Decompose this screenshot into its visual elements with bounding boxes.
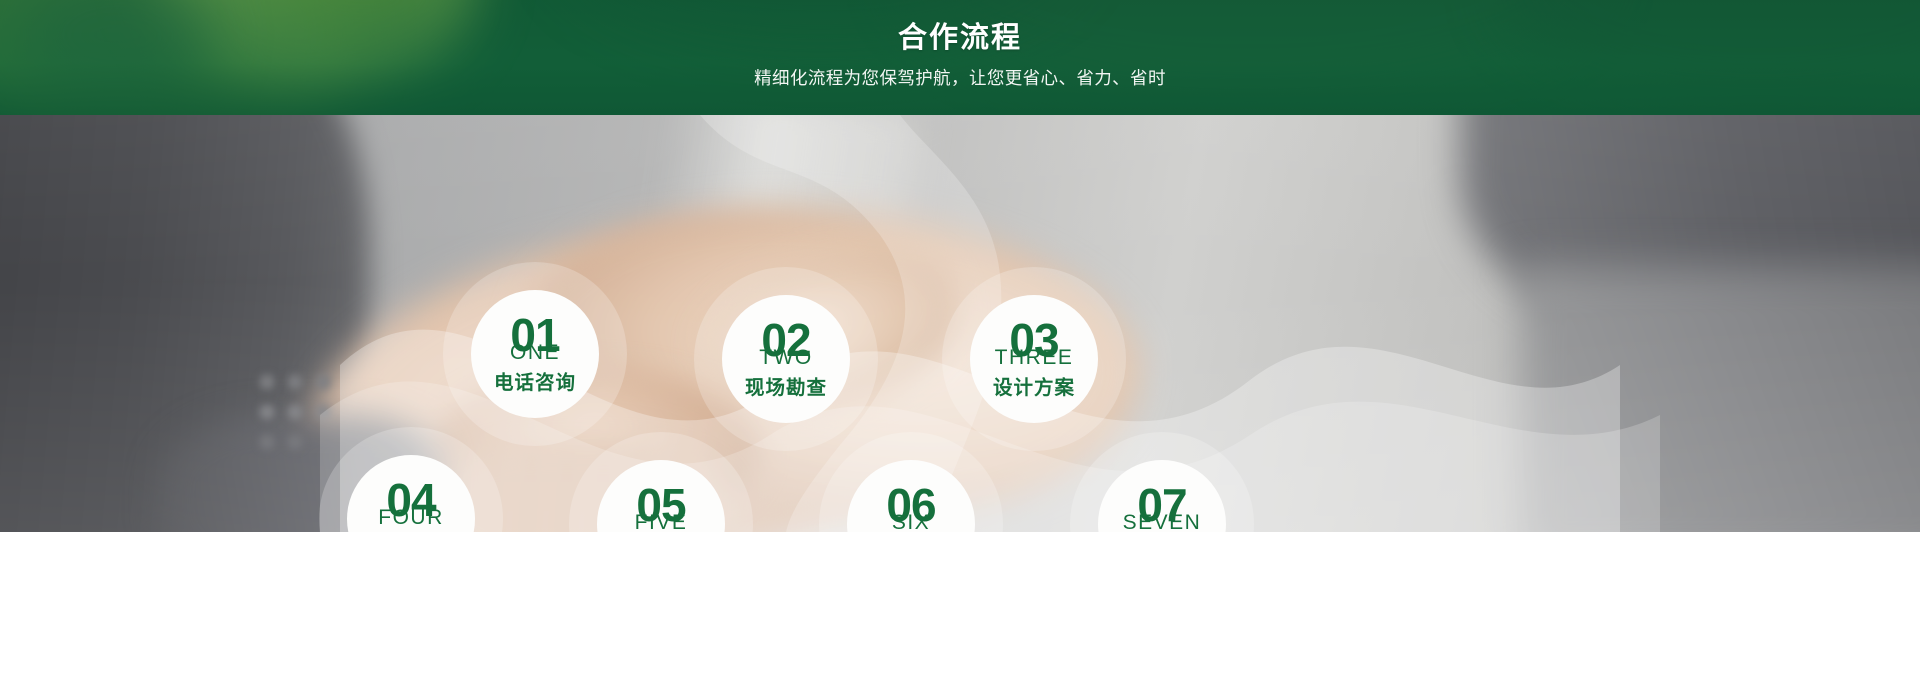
- step-english: FIVE: [597, 512, 725, 532]
- step-number-group: 04 FOUR: [347, 479, 475, 532]
- section-header: 合作流程 精细化流程为您保驾护航，让您更省心、省力、省时: [0, 0, 1920, 115]
- step-number-group: 05 FIVE: [597, 484, 725, 532]
- step-number-group: 07 SEVEN: [1098, 484, 1226, 532]
- process-step-03[interactable]: 03 THREE 设计方案: [970, 295, 1098, 423]
- step-english: SEVEN: [1098, 512, 1226, 532]
- footer-strip: [0, 532, 1920, 697]
- step-number-group: 06 SIX: [847, 484, 975, 532]
- process-step-05[interactable]: 05 FIVE 配送施工: [597, 460, 725, 532]
- step-disc: 02 TWO 现场勘查: [722, 295, 850, 423]
- header-text-group: 合作流程 精细化流程为您保驾护航，让您更省心、省力、省时: [0, 0, 1920, 115]
- page-title: 合作流程: [898, 24, 1022, 53]
- step-english: FOUR: [347, 507, 475, 528]
- step-english: ONE: [471, 342, 599, 363]
- hero-photo-stage: 01 ONE 电话咨询 02 TWO 现场勘查 03 THREE: [0, 115, 1920, 532]
- process-step-07[interactable]: 07 SEVEN 售后服务: [1098, 460, 1226, 532]
- step-label: 设计方案: [993, 379, 1075, 399]
- step-number-group: 01 ONE: [471, 314, 599, 372]
- process-step-01[interactable]: 01 ONE 电话咨询: [471, 290, 599, 418]
- step-disc: 03 THREE 设计方案: [970, 295, 1098, 423]
- step-number-group: 02 TWO: [722, 319, 850, 377]
- process-step-04[interactable]: 04 FOUR 签订合同: [347, 455, 475, 532]
- process-step-06[interactable]: 06 SIX 工程验收: [847, 460, 975, 532]
- step-number-group: 03 THREE: [970, 319, 1098, 377]
- step-english: TWO: [722, 347, 850, 368]
- step-label: 现场勘查: [745, 379, 827, 399]
- page-subtitle: 精细化流程为您保驾护航，让您更省心、省力、省时: [754, 70, 1166, 88]
- page-root: 合作流程 精细化流程为您保驾护航，让您更省心、省力、省时: [0, 0, 1920, 697]
- step-english: SIX: [847, 512, 975, 532]
- step-english: THREE: [970, 347, 1098, 368]
- step-disc: 01 ONE 电话咨询: [471, 290, 599, 418]
- process-step-02[interactable]: 02 TWO 现场勘查: [722, 295, 850, 423]
- step-label: 电话咨询: [494, 374, 576, 394]
